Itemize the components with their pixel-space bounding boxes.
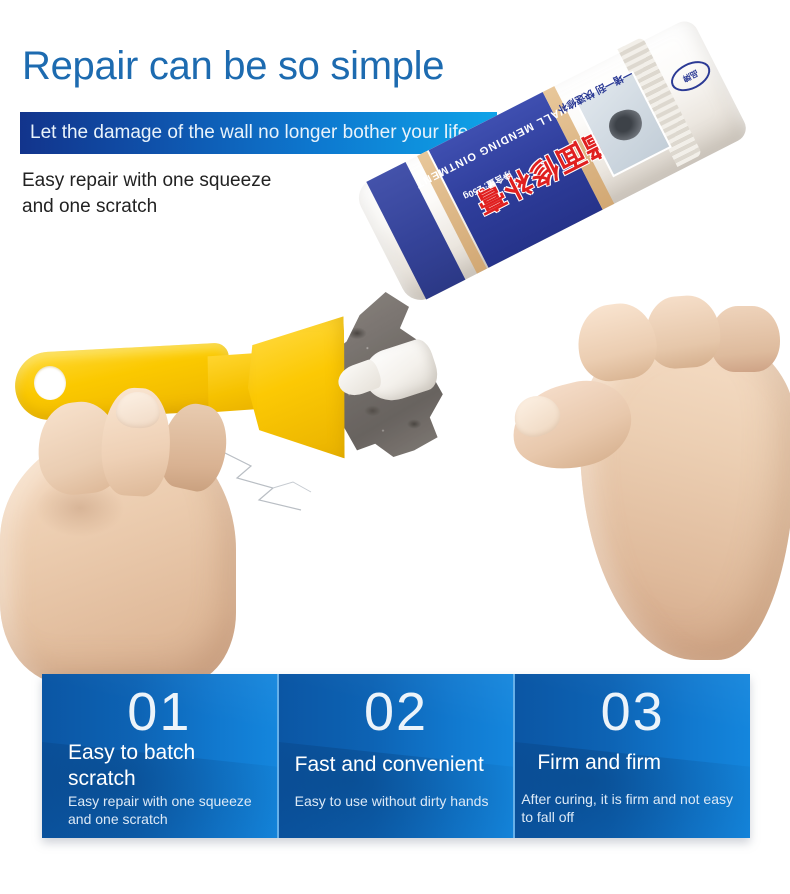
feature-panel-03[interactable]: 03 Firm and firm After curing, it is fir…	[513, 674, 750, 838]
feature-number: 01	[42, 682, 277, 742]
brand-logo: 品牌	[666, 55, 715, 97]
feature-panel-01[interactable]: 01 Easy to batch scratch Easy repair wit…	[42, 674, 277, 838]
feature-description: Easy repair with one squeeze and one scr…	[68, 792, 265, 828]
brand-logo-label: 品牌	[669, 58, 713, 95]
wall-hole-illustration	[604, 104, 648, 146]
left-hand	[0, 382, 290, 682]
product-tube: WALL MENDING OINTMENT 墙面修补膏 净含量: 250g 一堵…	[382, 96, 782, 426]
feature-description: After curing, it is firm and not easy to…	[521, 790, 738, 826]
product-banner: Repair can be so simple Let the damage o…	[0, 0, 790, 894]
feature-title: Fast and convenient	[295, 752, 502, 778]
product-photo: WALL MENDING OINTMENT 墙面修补膏 净含量: 250g 一堵…	[0, 0, 790, 680]
feature-description: Easy to use without dirty hands	[295, 792, 502, 810]
feature-number: 03	[515, 682, 750, 742]
feature-title: Easy to batch scratch	[68, 740, 265, 792]
feature-title: Firm and firm	[537, 750, 738, 776]
tube-body: WALL MENDING OINTMENT 墙面修补膏 净含量: 250g 一堵…	[352, 17, 751, 307]
feature-number: 02	[279, 682, 514, 742]
feature-panel-02[interactable]: 02 Fast and convenient Easy to use witho…	[277, 674, 514, 838]
feature-panel-row: 01 Easy to batch scratch Easy repair wit…	[42, 674, 750, 838]
